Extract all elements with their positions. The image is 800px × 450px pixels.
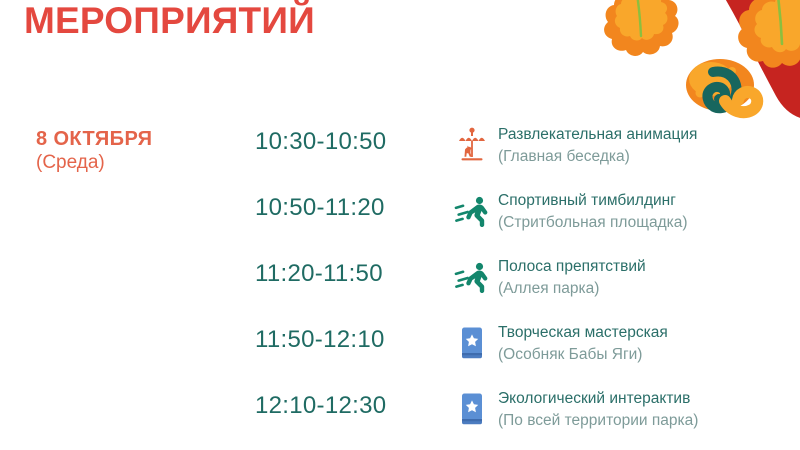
mushroom-shape bbox=[686, 59, 757, 112]
event-place: (Главная беседка) bbox=[498, 146, 798, 168]
event-name: Творческая мастерская bbox=[498, 322, 798, 344]
schedule-row[interactable]: 10:50-11:20 Спортивный тимбилдинг (С bbox=[0, 184, 800, 250]
schedule-row[interactable]: 11:50-12:10 Творческая мастерская (Особн… bbox=[0, 316, 800, 382]
event-time: 11:20-11:50 bbox=[255, 260, 383, 288]
schedule-row[interactable]: 11:20-11:50 Полоса препятствий (Алле bbox=[0, 250, 800, 316]
event-name: Экологический интерактив bbox=[498, 388, 798, 410]
event-place: (Стритбольная площадка) bbox=[498, 212, 798, 234]
event-time: 11:50-12:10 bbox=[255, 326, 385, 354]
autumn-leaf-right-shape bbox=[738, 0, 800, 68]
book-star-icon bbox=[452, 322, 492, 364]
page-title: МЕРОПРИЯТИЙ bbox=[24, 2, 315, 41]
schedule-row[interactable]: 10:30-10:50 Развлекательная анимация (Гл… bbox=[0, 118, 800, 184]
carousel-icon bbox=[452, 124, 492, 166]
event-time: 10:30-10:50 bbox=[255, 128, 386, 156]
event-text: Развлекательная анимация (Главная беседк… bbox=[498, 124, 798, 169]
schedule-rows: 10:30-10:50 Развлекательная анимация (Гл… bbox=[0, 118, 800, 448]
running-person-icon bbox=[452, 190, 492, 232]
event-place: (По всей территории парка) bbox=[498, 410, 798, 432]
event-time: 10:50-11:20 bbox=[255, 194, 385, 222]
schedule-row[interactable]: 12:10-12:30 Экологический интерактив (По… bbox=[0, 382, 800, 448]
event-text: Полоса препятствий (Аллея парка) bbox=[498, 256, 798, 301]
event-place: (Особняк Бабы Яги) bbox=[498, 344, 798, 366]
event-name: Спортивный тимбилдинг bbox=[498, 190, 798, 212]
red-corner-banner-shape bbox=[720, 0, 800, 120]
schedule-section: 8 ОКТЯБРЯ (Среда) 10:30-10:50 bbox=[0, 118, 800, 448]
running-person-icon bbox=[452, 256, 492, 298]
event-text: Спортивный тимбилдинг (Стритбольная площ… bbox=[498, 190, 798, 235]
event-time: 12:10-12:30 bbox=[255, 392, 386, 420]
event-text: Экологический интерактив (По всей террит… bbox=[498, 388, 798, 433]
event-place: (Аллея парка) bbox=[498, 278, 798, 300]
autumn-leaf-left-shape bbox=[604, 0, 678, 56]
event-name: Полоса препятствий bbox=[498, 256, 798, 278]
event-text: Творческая мастерская (Особняк Бабы Яги) bbox=[498, 322, 798, 367]
event-name: Развлекательная анимация bbox=[498, 124, 798, 146]
book-star-icon bbox=[452, 388, 492, 430]
